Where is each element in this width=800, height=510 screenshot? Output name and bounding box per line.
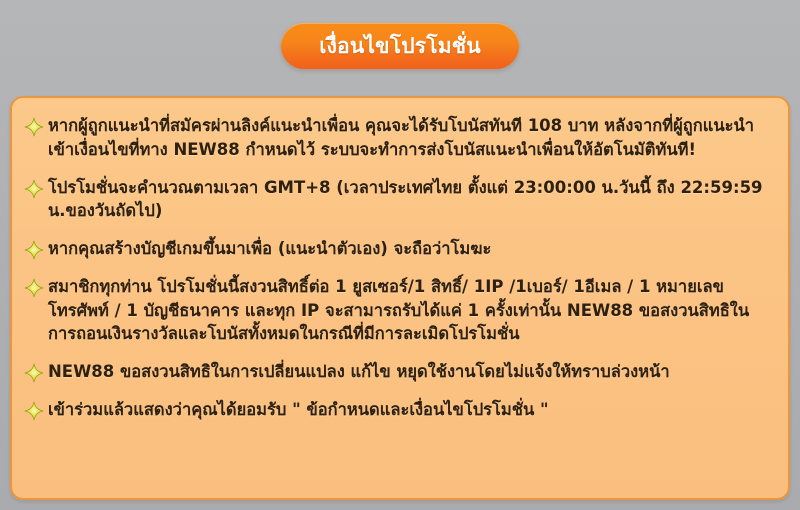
term-text: NEW88 ขอสงวนสิทธิในการเปลี่ยนแปลง แก้ไข … [48, 360, 774, 384]
term-text: โปรโมชั่นจะคำนวณตามเวลา GMT+8 (เวลาประเท… [48, 176, 774, 224]
list-item: หากคุณสร้างบัญชีเกมขึ้นมาเพื่อ (แนะนำตัว… [24, 237, 774, 261]
list-item: สมาชิกทุกท่าน โปรโมชั่นนี้สงวนสิทธิ์ต่อ … [24, 275, 774, 346]
title-area: เงื่อนไขโปรโมชั่น [0, 0, 800, 92]
sparkle-diamond-icon [24, 401, 44, 421]
promotion-terms-page: เงื่อนไขโปรโมชั่น [0, 0, 800, 510]
promotion-terms-title-button[interactable]: เงื่อนไขโปรโมชั่น [281, 23, 519, 69]
term-text: สมาชิกทุกท่าน โปรโมชั่นนี้สงวนสิทธิ์ต่อ … [48, 275, 774, 346]
sparkle-diamond-icon [24, 278, 44, 298]
list-item: NEW88 ขอสงวนสิทธิในการเปลี่ยนแปลง แก้ไข … [24, 360, 774, 384]
term-text: หากคุณสร้างบัญชีเกมขึ้นมาเพื่อ (แนะนำตัว… [48, 237, 774, 261]
term-text: หากผู้ถูกแนะนำที่สมัครผ่านลิงค์แนะนำเพื่… [48, 114, 774, 162]
terms-panel: หากผู้ถูกแนะนำที่สมัครผ่านลิงค์แนะนำเพื่… [10, 96, 790, 500]
list-item: หากผู้ถูกแนะนำที่สมัครผ่านลิงค์แนะนำเพื่… [24, 114, 774, 162]
sparkle-diamond-icon [24, 363, 44, 383]
page-title: เงื่อนไขโปรโมชั่น [319, 36, 481, 57]
sparkle-diamond-icon [24, 117, 44, 137]
list-item: โปรโมชั่นจะคำนวณตามเวลา GMT+8 (เวลาประเท… [24, 176, 774, 224]
sparkle-diamond-icon [24, 240, 44, 260]
list-item: เข้าร่วมแล้วแสดงว่าคุณได้ยอมรับ " ข้อกำห… [24, 398, 774, 422]
term-text: เข้าร่วมแล้วแสดงว่าคุณได้ยอมรับ " ข้อกำห… [48, 398, 774, 422]
terms-list: หากผู้ถูกแนะนำที่สมัครผ่านลิงค์แนะนำเพื่… [24, 114, 774, 422]
sparkle-diamond-icon [24, 179, 44, 199]
